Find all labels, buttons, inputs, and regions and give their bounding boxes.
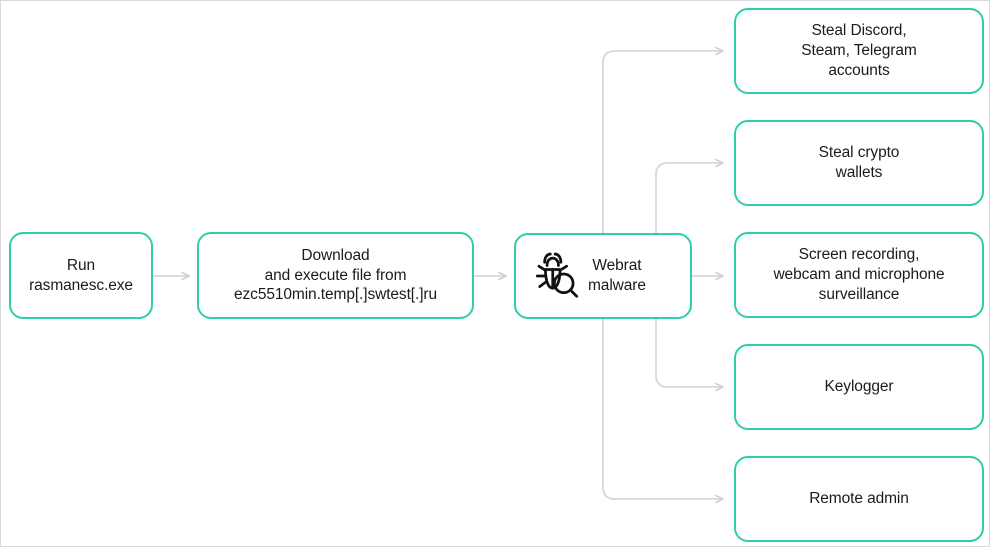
node-download-label: Download and execute file from ezc5510mi… [226, 246, 445, 305]
connector-malware-to-keylogger [656, 319, 723, 387]
node-outcome-remote-admin-label: Remote admin [801, 489, 917, 509]
node-outcome-keylogger[interactable]: Keylogger [734, 344, 984, 430]
node-outcome-surveillance-label: Screen recording, webcam and microphone … [765, 245, 952, 304]
node-outcome-crypto-label: Steal crypto wallets [811, 143, 908, 183]
node-run-label: Run rasmanesc.exe [21, 256, 141, 296]
connector-malware-to-remote-admin [603, 319, 723, 499]
node-outcome-keylogger-label: Keylogger [817, 377, 902, 397]
node-webrat-malware[interactable]: Webrat malware [514, 233, 692, 319]
node-outcome-crypto[interactable]: Steal crypto wallets [734, 120, 984, 206]
diagram-canvas: Run rasmanesc.exe Download and execute f… [0, 0, 990, 547]
node-download-and-execute[interactable]: Download and execute file from ezc5510mi… [197, 232, 474, 319]
node-run-rasmanesc[interactable]: Run rasmanesc.exe [9, 232, 153, 319]
node-outcome-surveillance[interactable]: Screen recording, webcam and microphone … [734, 232, 984, 318]
node-outcome-accounts-label: Steal Discord, Steam, Telegram accounts [793, 21, 924, 80]
node-outcome-remote-admin[interactable]: Remote admin [734, 456, 984, 542]
node-malware-label: Webrat malware [588, 256, 646, 296]
bug-magnifier-icon [530, 250, 582, 302]
node-outcome-accounts[interactable]: Steal Discord, Steam, Telegram accounts [734, 8, 984, 94]
